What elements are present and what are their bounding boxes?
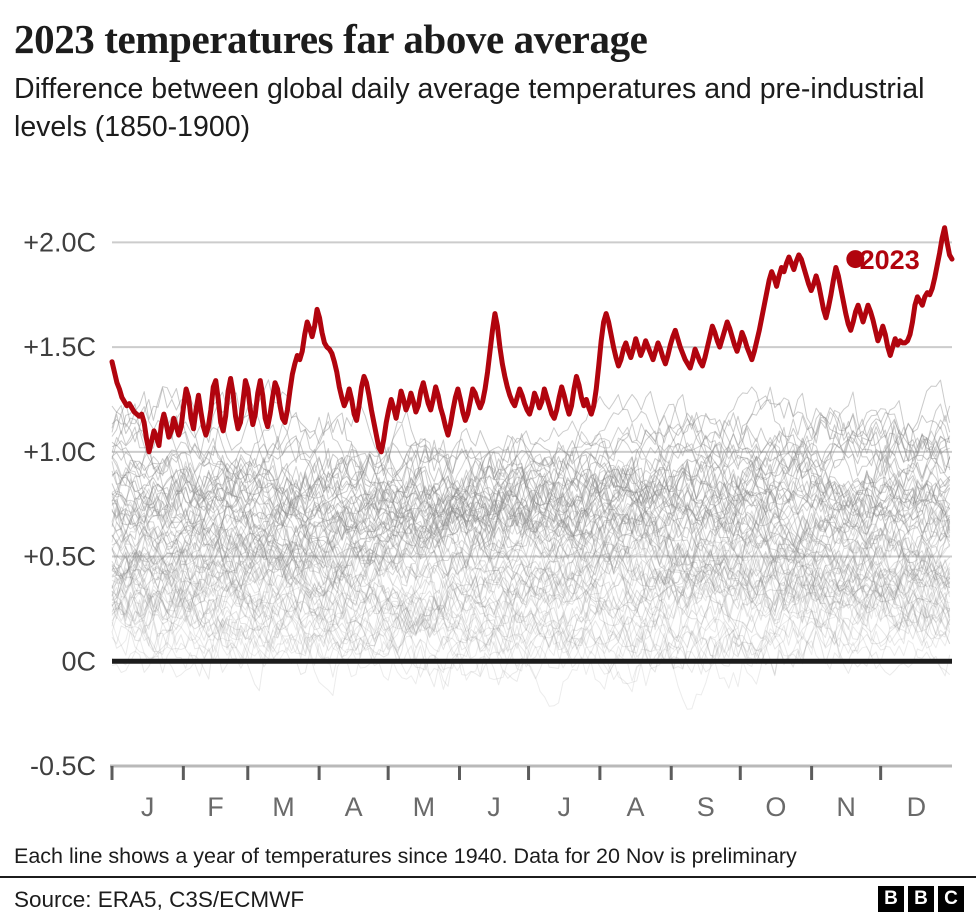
y-axis-tick-labels: +2.0C+1.5C+1.0C+0.5C0C-0.5C [23,227,96,781]
x-axis-tick-label: F [207,792,224,822]
y-axis-tick-label: +1.0C [23,437,96,467]
chart-plot-area: +2.0C+1.5C+1.0C+0.5C0C-0.5C JFMAMJJASOND… [0,190,976,840]
x-axis [110,766,952,780]
page-title: 2023 temperatures far above average [14,16,964,62]
series-label-2023: 2023 [860,245,920,275]
line-chart-svg: +2.0C+1.5C+1.0C+0.5C0C-0.5C JFMAMJJASOND… [0,190,976,840]
footer-source-row: Source: ERA5, C3S/ECMWF B B C [0,884,976,915]
bbc-logo-letter-3: C [938,886,964,912]
bbc-logo: B B C [878,886,964,912]
x-axis-tick-label: S [697,792,715,822]
x-axis-tick-label: O [765,792,786,822]
chart-subtitle: Difference between global daily average … [14,70,944,146]
x-axis-tick-label: A [627,792,645,822]
footer-divider [0,876,976,878]
chart-header: 2023 temperatures far above average Diff… [14,16,964,146]
x-axis-tick-label: N [836,792,856,822]
x-axis-tick-label: J [557,792,571,822]
chart-footnote: Each line shows a year of temperatures s… [14,843,960,869]
series-annotation: 2023 [846,245,919,275]
y-axis-tick-label: -0.5C [30,751,96,781]
x-axis-tick-label: D [907,792,927,822]
y-axis-tick-label: 0C [61,646,96,676]
x-axis-tick-label: J [487,792,501,822]
y-axis-tick-label: +1.5C [23,332,96,362]
x-axis-tick-label: M [272,792,295,822]
y-axis-tick-label: +2.0C [23,227,96,257]
x-axis-tick-labels: JFMAMJJASOND [141,792,926,822]
bbc-logo-letter-1: B [878,886,904,912]
x-axis-tick-label: J [141,792,155,822]
chart-card: 2023 temperatures far above average Diff… [0,0,976,915]
bbc-logo-letter-2: B [908,886,934,912]
x-axis-tick-label: M [413,792,436,822]
y-axis-tick-label: +0.5C [23,542,96,572]
source-label: Source: ERA5, C3S/ECMWF [14,885,304,915]
x-axis-tick-label: A [345,792,363,822]
